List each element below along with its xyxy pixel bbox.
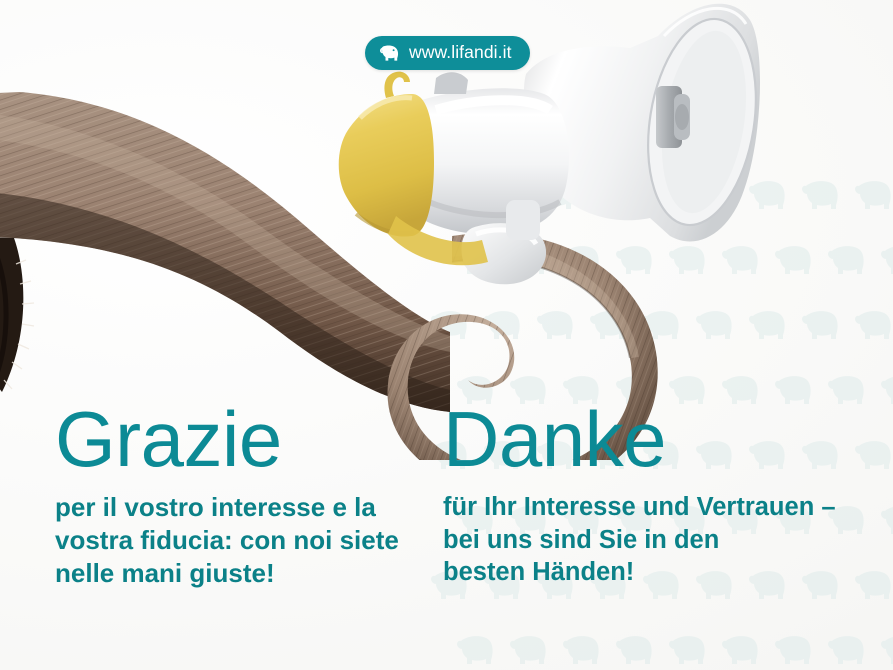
website-url-label: www.lifandi.it: [409, 44, 512, 62]
elephant-watermark-icon: [880, 375, 893, 405]
elephant-watermark-icon: [880, 245, 893, 275]
elephant-icon: [379, 45, 400, 62]
elephant-watermark-icon: [456, 635, 496, 665]
poster-canvas: www.lifandi.it Grazie per il vostro inte…: [0, 0, 893, 670]
elephant-watermark-icon: [615, 635, 655, 665]
italian-line-3: nelle mani giuste!: [55, 557, 425, 590]
elephant-watermark-icon: [854, 440, 893, 470]
megaphone-yellow-band: [339, 72, 434, 237]
elephant-watermark-icon: [774, 635, 814, 665]
german-body-text: für Ihr Interesse und Vertrauen – bei un…: [443, 491, 843, 589]
italian-line-1: per il vostro interesse e la: [55, 491, 425, 524]
italian-line-2: vostra fiducia: con noi siete: [55, 524, 425, 557]
german-line-1: für Ihr Interesse und Vertrauen –: [443, 491, 843, 524]
elephant-watermark-icon: [827, 635, 867, 665]
elephant-watermark-icon: [721, 375, 761, 405]
elephant-watermark-icon: [854, 570, 893, 600]
german-line-3: besten Händen!: [443, 556, 843, 589]
german-message-column: Danke für Ihr Interesse und Vertrauen – …: [443, 402, 843, 589]
elephant-watermark-icon: [854, 310, 893, 340]
italian-headline: Grazie: [55, 402, 425, 477]
italian-body-text: per il vostro interesse e la vostra fidu…: [55, 491, 425, 591]
elephant-watermark-icon: [509, 635, 549, 665]
elephant-hair-tuft: [0, 236, 34, 402]
elephant-watermark-icon: [880, 505, 893, 535]
elephant-watermark-icon: [774, 375, 814, 405]
elephant-watermark-icon: [668, 635, 708, 665]
elephant-watermark-icon: [562, 635, 602, 665]
german-line-2: bei uns sind Sie in den: [443, 524, 843, 557]
elephant-watermark-icon: [880, 635, 893, 665]
elephant-watermark-icon: [827, 245, 867, 275]
german-headline: Danke: [443, 402, 843, 477]
watermark-row: [430, 635, 893, 670]
elephant-watermark-icon: [827, 375, 867, 405]
megaphone-clip: [656, 86, 690, 148]
elephant-watermark-icon: [854, 180, 893, 210]
website-badge[interactable]: www.lifandi.it: [365, 36, 530, 70]
italian-message-column: Grazie per il vostro interesse e la vost…: [55, 402, 425, 591]
elephant-watermark-icon: [721, 635, 761, 665]
